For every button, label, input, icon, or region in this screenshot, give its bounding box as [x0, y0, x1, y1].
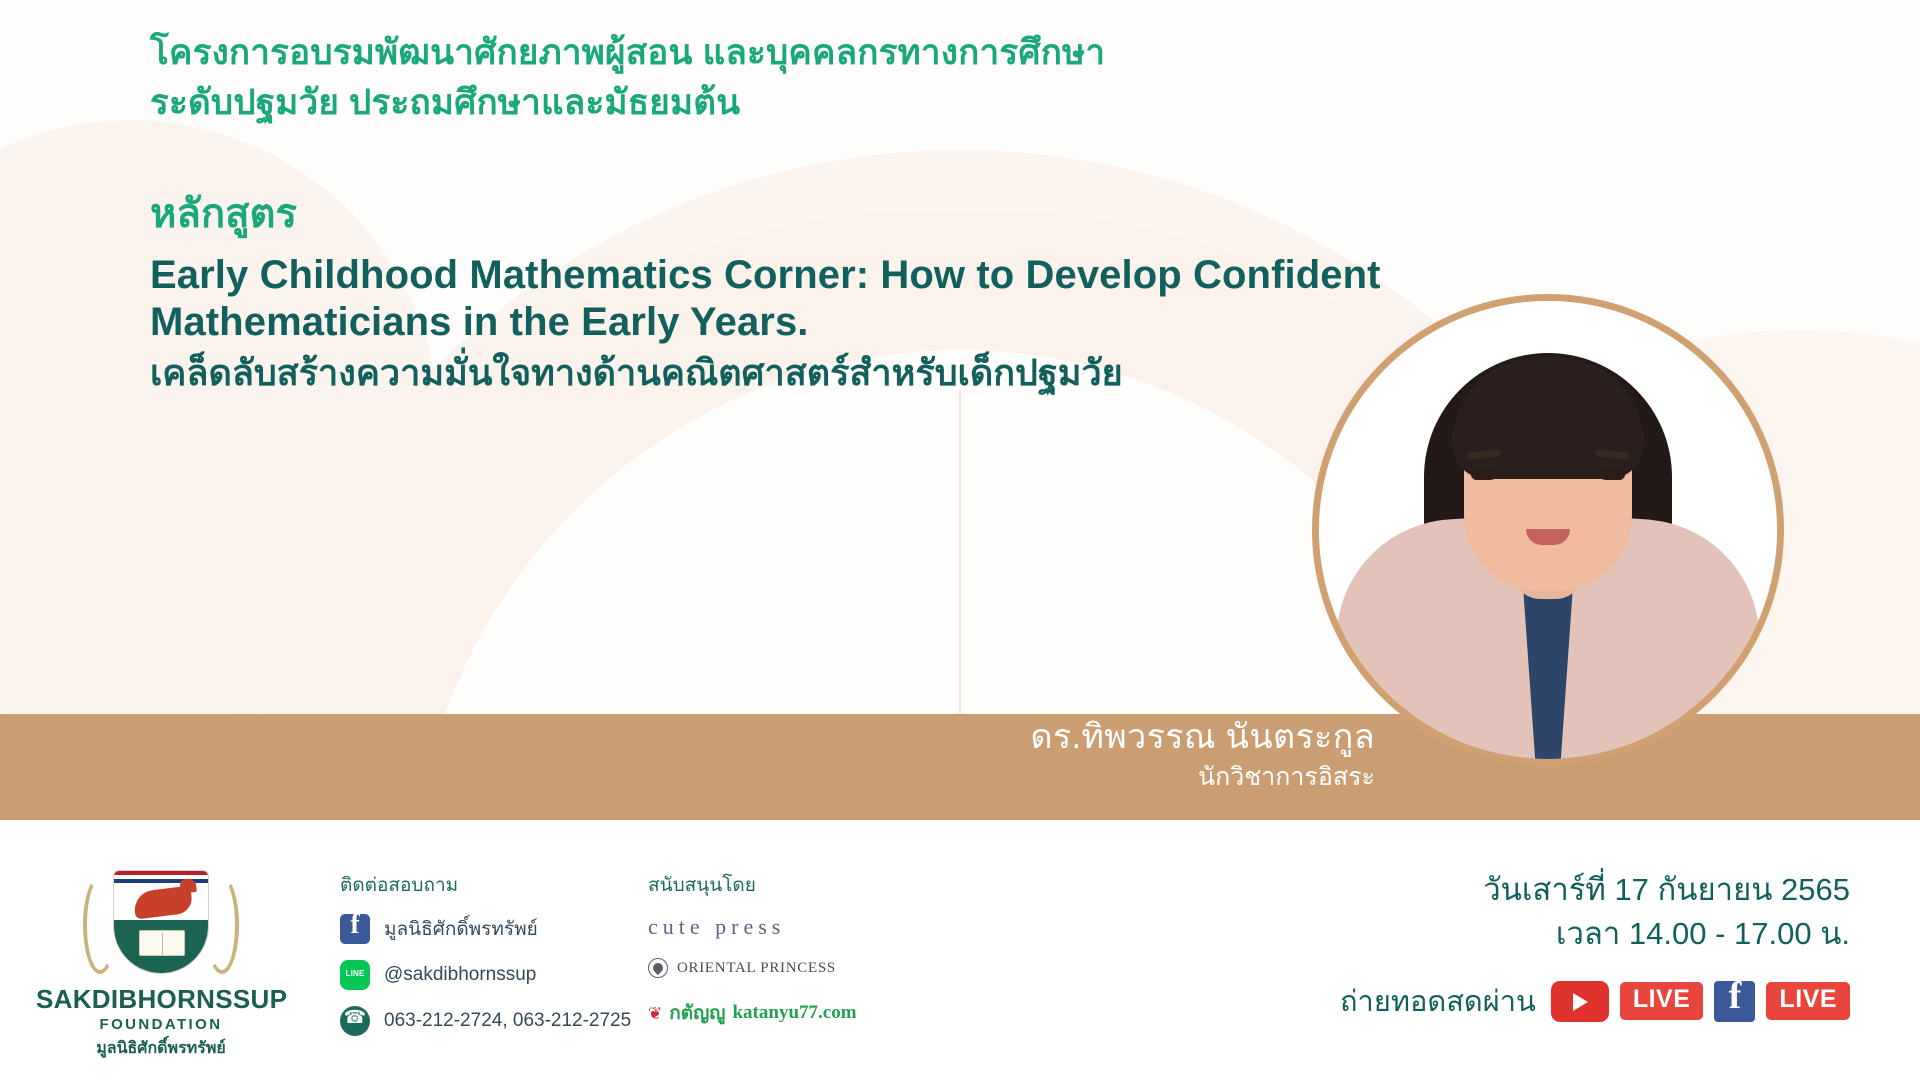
speaker-portrait-image: [1319, 301, 1777, 759]
footer: SAKDIBHORNSSUP FOUNDATION มูลนิธิศักดิ์พ…: [0, 820, 1920, 1080]
contact-line-text: @sakdibhornssup: [384, 964, 536, 986]
speaker-portrait: [1312, 294, 1784, 766]
broadcast-label: ถ่ายทอดสดผ่าน: [1340, 978, 1536, 1024]
shield-emblem-icon: [81, 870, 241, 982]
line-icon[interactable]: [340, 960, 370, 990]
program-header: โครงการอบรมพัฒนาศักยภาพผู้สอน และบุคคลกร…: [150, 28, 1330, 127]
contact-phone-text: 063-212-2724, 063-212-2725: [384, 1010, 631, 1032]
phone-icon[interactable]: [340, 1006, 370, 1036]
portrait-eye-left: [1471, 469, 1496, 480]
laurel-right-icon: [205, 876, 239, 974]
sponsor-katanyu-url[interactable]: katanyu77.com: [732, 1002, 856, 1024]
event-time: เวลา 14.00 - 17.00 น.: [1340, 912, 1850, 956]
contact-row-line[interactable]: @sakdibhornssup: [340, 960, 600, 990]
speaker-name: ดร.ทิพวรรณ นันตระกูล: [1030, 716, 1375, 759]
sponsor-heading: สนับสนุนโดย: [648, 870, 948, 900]
event-date: วันเสาร์ที่ 17 กันยายน 2565: [1340, 868, 1850, 912]
schedule-block: วันเสาร์ที่ 17 กันยายน 2565 เวลา 14.00 -…: [1340, 868, 1850, 1024]
sponsor-column: สนับสนุนโดย cute press ORIENTAL PRINCESS…: [648, 870, 948, 1028]
youtube-icon[interactable]: [1551, 981, 1609, 1022]
facebook-icon[interactable]: [340, 914, 370, 944]
poster-canvas: โครงการอบรมพัฒนาศักยภาพผู้สอน และบุคคลกร…: [0, 0, 1920, 1080]
heart-icon: ❦: [648, 1005, 662, 1022]
course-title-line-2: Mathematicians in the Early Years.: [150, 299, 1440, 346]
contact-row-facebook[interactable]: มูลนิธิศักดิ์พรทรัพย์: [340, 914, 600, 944]
foundation-logo: SAKDIBHORNSSUP FOUNDATION มูลนิธิศักดิ์พ…: [36, 870, 286, 1061]
foundation-name-thai: มูลนิธิศักดิ์พรทรัพย์: [36, 1036, 286, 1061]
speaker-info: ดร.ทิพวรรณ นันตระกูล นักวิชาการอิสระ: [1030, 716, 1375, 793]
sponsor-oriental-princess-text: ORIENTAL PRINCESS: [677, 960, 836, 977]
foundation-subtitle: FOUNDATION: [36, 1016, 286, 1033]
foundation-name: SAKDIBHORNSSUP: [36, 986, 286, 1013]
course-block: หลักสูตร Early Childhood Mathematics Cor…: [150, 190, 1440, 395]
laurel-left-icon: [83, 876, 117, 974]
contact-row-phone[interactable]: 063-212-2724, 063-212-2725: [340, 1006, 600, 1036]
contact-column: ติดต่อสอบถาม มูลนิธิศักดิ์พรทรัพย์ @sakd…: [340, 870, 600, 1052]
contact-facebook-text: มูลนิธิศักดิ์พรทรัพย์: [384, 914, 538, 944]
broadcast-row: ถ่ายทอดสดผ่าน LIVE LIVE: [1340, 978, 1850, 1024]
course-title-thai: เคล็ดลับสร้างความมั่นใจทางด้านคณิตศาสตร์…: [150, 350, 1440, 395]
contact-heading: ติดต่อสอบถาม: [340, 870, 600, 900]
course-kicker-label: หลักสูตร: [150, 190, 1440, 238]
facebook-icon-badge[interactable]: [1714, 981, 1755, 1022]
open-book-icon: [139, 930, 185, 956]
sponsor-katanyu[interactable]: ❦ กตัญญู katanyu77.com: [648, 998, 948, 1028]
shield-lower-field: [114, 920, 209, 974]
facebook-live-badge[interactable]: LIVE: [1766, 982, 1850, 1020]
sponsor-cute-press-logo: cute press: [648, 914, 948, 940]
oriental-princess-icon: [648, 958, 668, 978]
shield-icon: [113, 870, 209, 974]
sponsor-katanyu-thai: กตัญญู: [669, 998, 725, 1028]
program-header-line-1: โครงการอบรมพัฒนาศักยภาพผู้สอน และบุคคลกร…: [150, 28, 1330, 78]
sponsor-oriental-princess: ORIENTAL PRINCESS: [648, 958, 948, 978]
course-title-line-1: Early Childhood Mathematics Corner: How …: [150, 252, 1440, 299]
portrait-eye-right: [1600, 469, 1625, 480]
program-header-line-2: ระดับปฐมวัย ประถมศึกษาและมัธยมต้น: [150, 78, 1330, 128]
speaker-role: นักวิชาการอิสระ: [1030, 761, 1375, 794]
youtube-live-badge[interactable]: LIVE: [1620, 982, 1704, 1020]
